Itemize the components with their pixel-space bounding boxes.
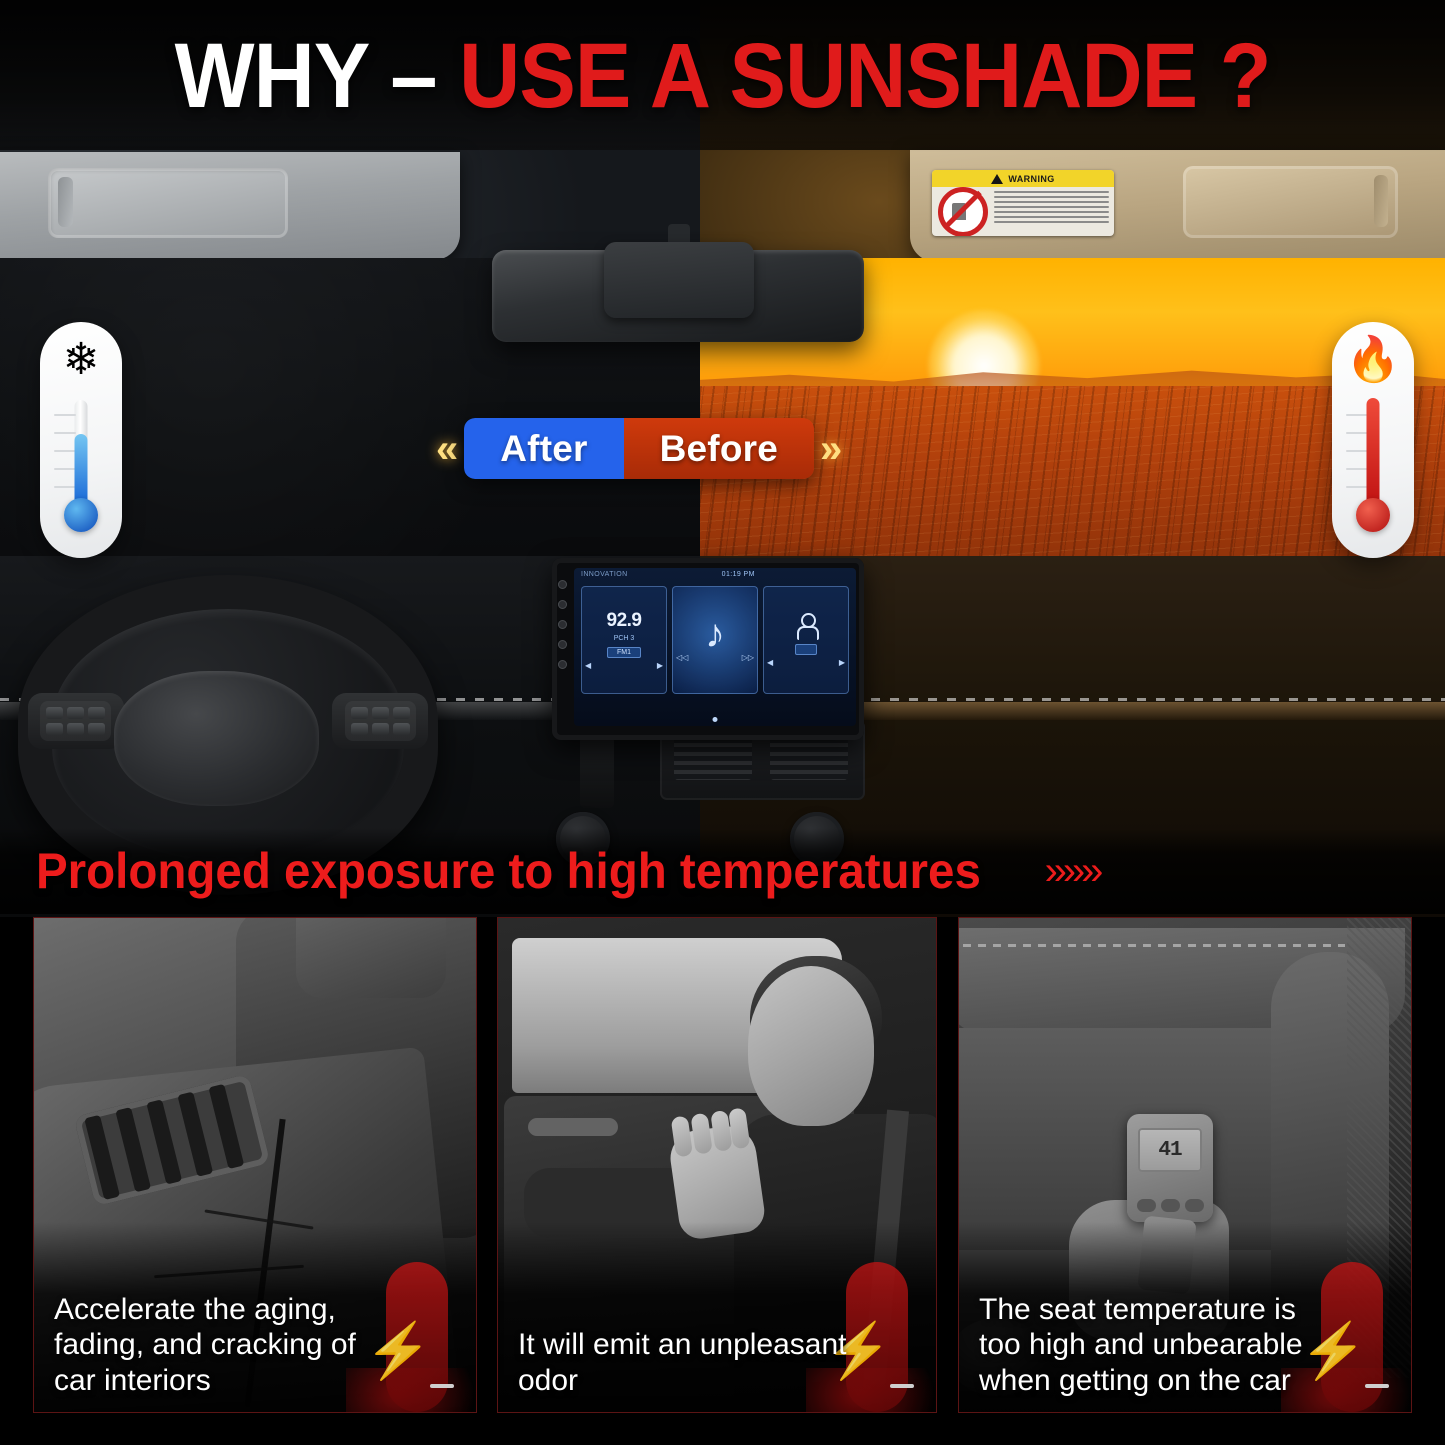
title-band: WHY – USE A SUNSHADE ? xyxy=(0,0,1445,152)
rearview-mirror xyxy=(492,250,864,342)
no-child-seat-icon xyxy=(932,187,994,236)
person-icon xyxy=(796,613,816,639)
after-label: After xyxy=(464,418,623,479)
thermometer-buttons[interactable] xyxy=(1137,1199,1204,1212)
profile-prev-icon[interactable]: ◀ xyxy=(767,658,773,667)
warning-body xyxy=(932,187,1114,236)
infotainment-head-unit[interactable]: INNOVATION 01:19 PM 92.9 PCH 3 FM1 ◀ ▶ xyxy=(552,558,864,740)
infotainment-cards: 92.9 PCH 3 FM1 ◀ ▶ ♪ ◁◁ ▷▷ xyxy=(574,578,856,694)
subhead-text: Prolonged exposure to high temperatures xyxy=(36,846,981,896)
radio-prev-icon[interactable]: ◀ xyxy=(585,661,591,670)
thermometer-fill-cold xyxy=(75,434,88,506)
title-white-part: WHY – xyxy=(175,25,437,127)
page-indicator-dot xyxy=(713,717,718,722)
infotainment-status-bar: INNOVATION 01:19 PM xyxy=(574,568,856,578)
warning-heading-text: WARNING xyxy=(1008,174,1054,184)
visor-mirror-cover-right xyxy=(1183,166,1398,238)
radio-preset-label: PCH 3 xyxy=(614,635,635,642)
visor-warning-label: WARNING xyxy=(932,170,1114,236)
profile-card[interactable]: ◀ ▶ xyxy=(763,586,849,694)
before-after-badge: « After Before » xyxy=(430,418,848,479)
infotainment-clock: 01:19 PM xyxy=(722,571,755,578)
radio-next-icon[interactable]: ▶ xyxy=(657,661,663,670)
sunshade-marketing-poster: WARNING xyxy=(0,0,1445,1445)
hero-before-after-comparison: WARNING xyxy=(0,0,1445,917)
title-red-part: USE A SUNSHADE ? xyxy=(459,25,1270,127)
consequence-panels: ⚡ Accelerate the aging, fading, and crac… xyxy=(0,917,1445,1445)
hot-thermometer-badge: 🔥 xyxy=(1332,322,1414,558)
page-title: WHY – USE A SUNSHADE ? xyxy=(175,30,1271,122)
left-chevron-icon: « xyxy=(430,429,464,469)
media-skip-back-icon[interactable]: ◁◁ xyxy=(676,653,688,662)
thermometer-reading-value: 41 xyxy=(1158,1139,1181,1162)
infotainment-brand: INNOVATION xyxy=(581,571,628,578)
panel-caption-3: The seat temperature is too high and unb… xyxy=(979,1292,1337,1398)
thermometer-lcd: 41 xyxy=(1138,1128,1202,1172)
thermometer-ticks-cold xyxy=(54,414,76,506)
caption-underscore-1 xyxy=(430,1384,454,1388)
snowflake-icon: ❄ xyxy=(40,338,122,382)
warning-fine-print xyxy=(994,187,1114,236)
warning-triangle-icon xyxy=(991,174,1003,184)
flame-icon: 🔥 xyxy=(1332,338,1414,382)
right-chevron-icon: » xyxy=(814,429,848,469)
thermometer-fill-hot xyxy=(1367,398,1380,506)
infotainment-side-buttons[interactable] xyxy=(558,580,567,669)
radio-band-chip[interactable]: FM1 xyxy=(607,647,641,658)
cold-thermometer-badge: ❄ xyxy=(40,322,122,558)
caption-underscore-3 xyxy=(1365,1384,1389,1388)
caption-underscore-2 xyxy=(890,1384,914,1388)
thermometer-bulb-hot xyxy=(1356,498,1390,532)
thermometer-bulb-cold xyxy=(64,498,98,532)
steering-wheel-airbag-hub xyxy=(114,671,319,806)
media-card[interactable]: ♪ ◁◁ ▷▷ xyxy=(672,586,758,694)
infrared-thermometer-gun: 41 xyxy=(1127,1114,1213,1222)
panel-caption-2: It will emit an unpleasant odor xyxy=(518,1327,862,1398)
profile-nav-controls[interactable]: ◀ ▶ xyxy=(761,658,851,667)
profile-next-icon[interactable]: ▶ xyxy=(839,658,845,667)
panel-aging-interior: ⚡ Accelerate the aging, fading, and crac… xyxy=(33,917,477,1413)
sun-visor-left xyxy=(0,152,460,260)
warning-header-strip: WARNING xyxy=(932,170,1114,187)
steering-buttons-right[interactable] xyxy=(345,701,416,741)
panel-hot-seat: 41 ⚡ The seat temperature is too high an… xyxy=(958,917,1412,1413)
console-vent-a xyxy=(674,734,752,780)
sun-visor-right: WARNING xyxy=(910,150,1445,262)
panel-unpleasant-odor: ⚡ It will emit an unpleasant odor xyxy=(497,917,937,1413)
profile-chip[interactable] xyxy=(795,644,817,655)
music-note-icon: ♪ xyxy=(705,618,725,650)
radio-tuning-controls[interactable]: ◀ ▶ xyxy=(579,661,669,670)
radio-card[interactable]: 92.9 PCH 3 FM1 ◀ ▶ xyxy=(581,586,667,694)
steering-buttons-left[interactable] xyxy=(40,701,111,741)
media-skip-forward-icon[interactable]: ▷▷ xyxy=(742,653,754,662)
mirror-visor-extender xyxy=(604,242,754,318)
thermometer-ticks-hot xyxy=(1346,414,1368,506)
radio-frequency-value: 92.9 xyxy=(607,610,642,632)
infotainment-screen[interactable]: INNOVATION 01:19 PM 92.9 PCH 3 FM1 ◀ ▶ xyxy=(574,568,856,726)
before-label: Before xyxy=(624,418,814,479)
subhead-chevrons-icon: »»» xyxy=(1045,849,1100,894)
screen-mount-stand xyxy=(580,736,614,808)
media-transport-controls[interactable]: ◁◁ ▷▷ xyxy=(670,653,760,662)
console-vent-b xyxy=(770,734,848,780)
subhead-band: Prolonged exposure to high temperatures … xyxy=(0,828,1445,914)
panel-caption-1: Accelerate the aging, fading, and cracki… xyxy=(54,1292,402,1398)
visor-mirror-cover-left xyxy=(48,168,288,238)
